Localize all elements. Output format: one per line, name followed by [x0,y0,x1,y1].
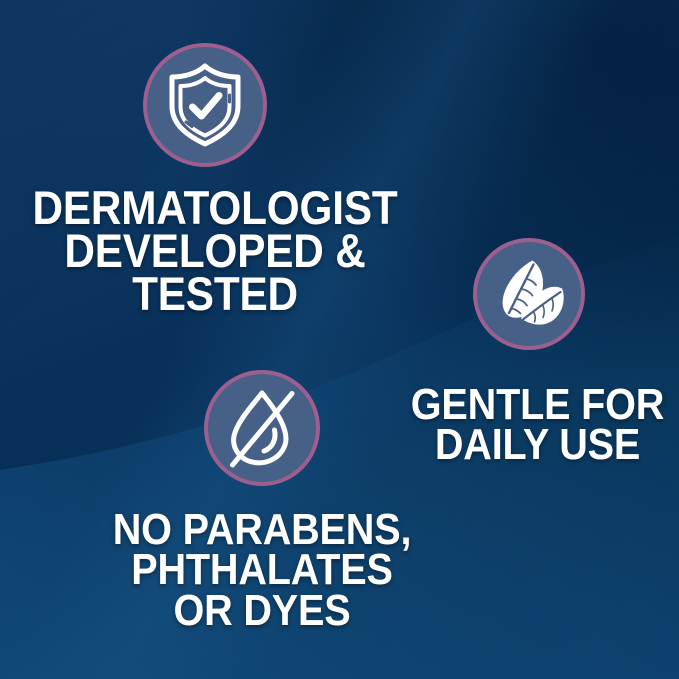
leaf-slash-icon [221,386,303,470]
caption-dermatologist: DERMATOLOGIST DEVELOPED & TESTED [22,186,409,316]
badge-dermatologist [143,43,267,167]
product-benefits-poster: DERMATOLOGIST DEVELOPED & TESTED GENTLE … [0,0,679,679]
caption-no-parabens: NO PARABENS, PHTHALATES OR DYES [80,510,444,631]
shield-check-icon [166,62,244,148]
caption-gentle: GENTLE FOR DAILY USE [410,385,665,466]
badge-gentle [473,238,585,350]
badge-no-parabens [204,370,320,486]
feathers-icon [492,257,566,331]
